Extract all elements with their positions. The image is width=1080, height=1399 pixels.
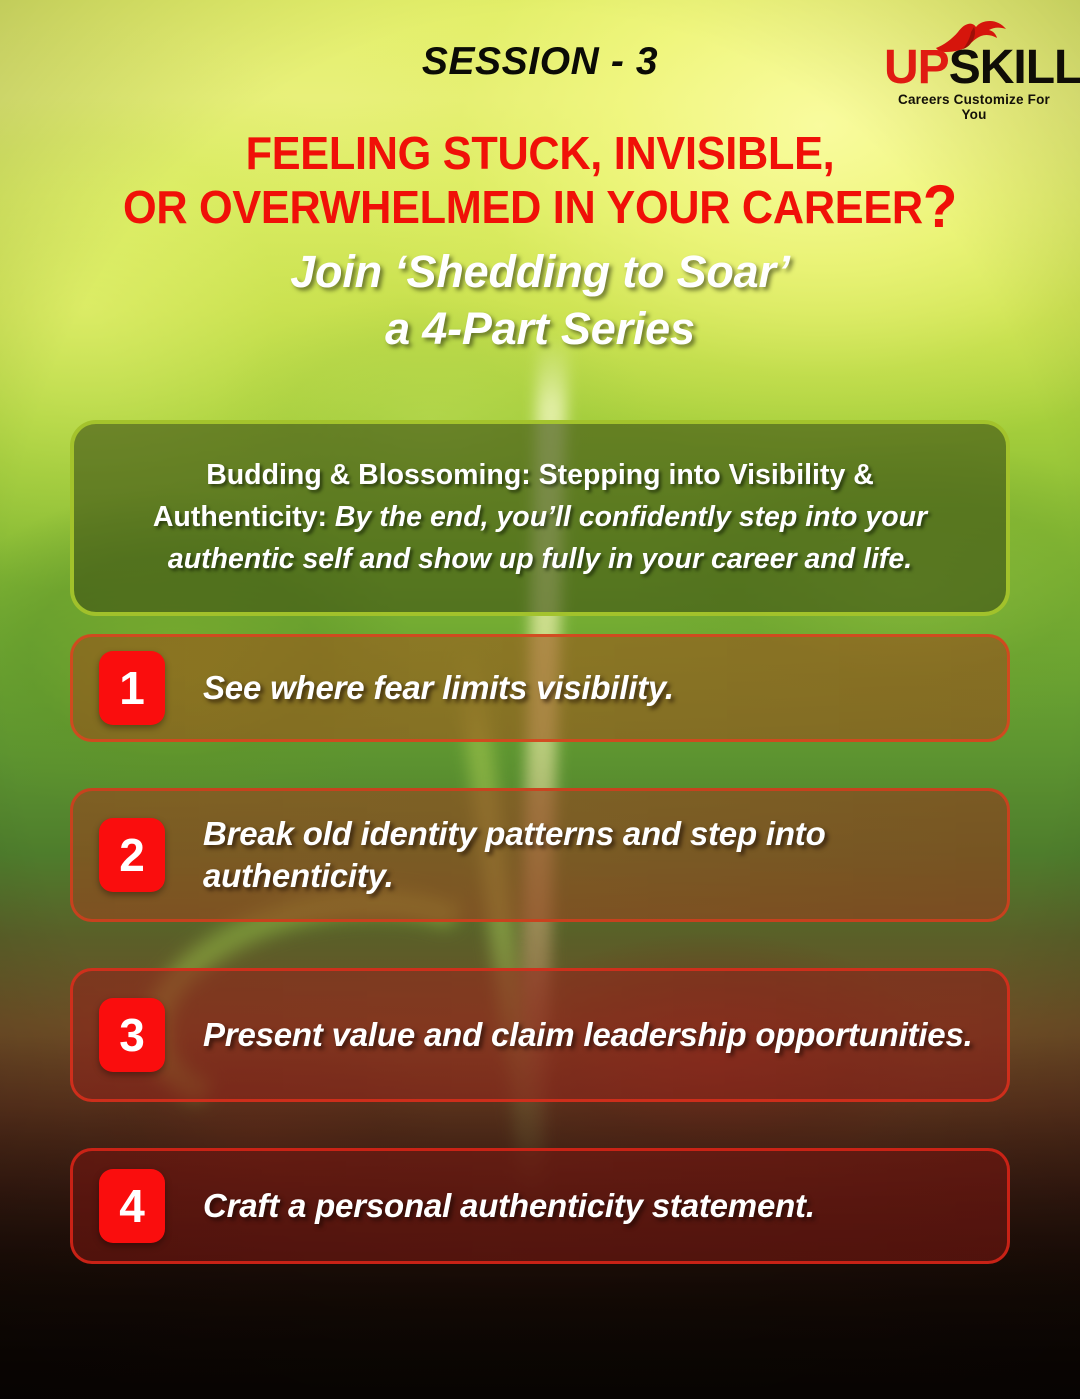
list-item[interactable]: 1 See where fear limits visibility. [70, 634, 1010, 742]
poster: SESSION - 3 UPSKILL Careers Customize Fo… [0, 0, 1080, 1399]
subtitle-line-1: Join ‘Shedding to Soar’ [290, 246, 790, 297]
upskill-logo: UPSKILL Careers Customize For You [884, 18, 1064, 110]
logo-word-up: UP [884, 41, 949, 94]
headline-line-2: OR OVERWHELMED IN YOUR CAREER [123, 181, 923, 233]
logo-wordmark: UPSKILL [884, 44, 1064, 92]
list-item[interactable]: 4 Craft a personal authenticity statemen… [70, 1148, 1010, 1264]
description-box: Budding & Blossoming: Stepping into Visi… [70, 420, 1010, 616]
poster-content: SESSION - 3 UPSKILL Careers Customize Fo… [0, 0, 1080, 1399]
headline-line-1: FEELING STUCK, INVISIBLE, [246, 127, 835, 179]
item-number-badge: 2 [99, 818, 165, 892]
item-text: See where fear limits visibility. [203, 667, 674, 709]
subtitle-line-2: a 4-Part Series [385, 303, 695, 354]
subtitle: Join ‘Shedding to Soar’ a 4-Part Series [0, 243, 1080, 357]
item-number-badge: 1 [99, 651, 165, 725]
item-text: Present value and claim leadership oppor… [203, 1014, 973, 1056]
page-title: FEELING STUCK, INVISIBLE, OR OVERWHELMED… [32, 126, 1047, 234]
item-text: Break old identity patterns and step int… [203, 813, 981, 897]
headline-question-mark: ? [923, 173, 957, 240]
list-item[interactable]: 3 Present value and claim leadership opp… [70, 968, 1010, 1102]
item-number-badge: 3 [99, 998, 165, 1072]
logo-word-skill: SKILL [949, 41, 1080, 94]
logo-tagline: Careers Customize For You [884, 92, 1064, 122]
item-number-badge: 4 [99, 1169, 165, 1243]
list-item[interactable]: 2 Break old identity patterns and step i… [70, 788, 1010, 922]
item-text: Craft a personal authenticity statement. [203, 1185, 815, 1227]
